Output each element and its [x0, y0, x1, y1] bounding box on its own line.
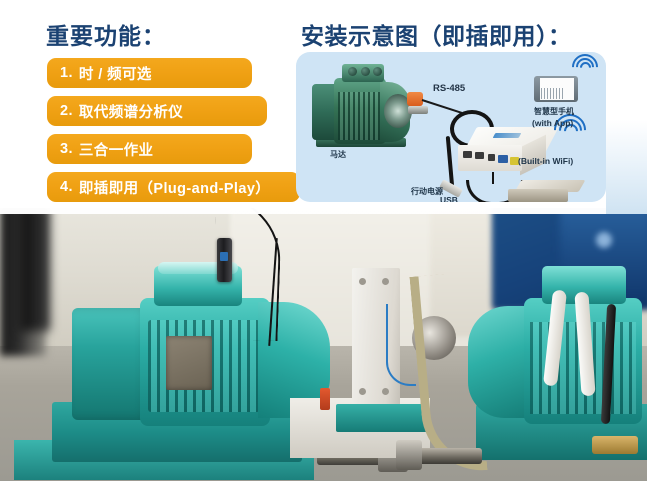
photo-brass-fitting [592, 436, 638, 454]
feature-list: 1. 时 / 频可选 2. 取代频谱分析仪 3. 三合一作业 4. 即插即用（P… [47, 58, 307, 210]
diagram-label-smartphone: 智慧型手机 [534, 106, 574, 117]
photo-bracket-hole [382, 278, 389, 285]
feature-item-1-number: 1. [60, 65, 73, 81]
diagram-smartphone-spectrum-chart [541, 88, 565, 99]
background-photo-motor-test-bench [0, 208, 647, 481]
diagram-power-bank-front [508, 189, 568, 202]
diagram-powerbank-cable-up [492, 172, 494, 184]
diagram-motor-terminal-hole [373, 67, 382, 76]
diagram-label-with-app: (with App) [532, 118, 573, 128]
feature-item-4-label: 即插即用（Plug-and-Play） [79, 177, 270, 198]
photo-motor-right-shaft [416, 448, 482, 464]
diagram-power-bank [508, 180, 582, 202]
diagram-label-power-bank: 行动电源 [411, 186, 443, 197]
feature-item-1[interactable]: 1. 时 / 频可选 [47, 58, 252, 88]
diagram-gateway-usb-port [475, 152, 484, 159]
photo-motor-left-terminal-housing [72, 308, 150, 420]
diagram-gateway-vga-port [498, 155, 508, 163]
diagram-cable-tail [446, 136, 455, 188]
diagram-label-motor: 马达 [330, 149, 346, 160]
feature-item-2[interactable]: 2. 取代频谱分析仪 [47, 96, 267, 126]
page-title-installation-diagram: 安装示意图（即插即用）： [301, 17, 572, 51]
slide-root: 重要功能： 1. 时 / 频可选 2. 取代频谱分析仪 3. 三合一作业 4. … [0, 0, 647, 481]
diagram-gateway-lan-port [488, 154, 495, 161]
wifi-signal-icon-phone [572, 54, 602, 84]
feature-item-2-number: 2. [60, 103, 73, 119]
diagram-gateway-logo [493, 133, 522, 138]
photo-blue-wire [386, 304, 416, 386]
page-title-features: 重要功能： [46, 17, 166, 51]
photo-sensor-indicator [220, 252, 228, 261]
photo-motor-right-end-bell [468, 306, 530, 418]
photo-motor-left-nameplate [166, 336, 212, 390]
feature-item-4[interactable]: 4. 即插即用（Plug-and-Play） [47, 172, 300, 202]
feature-item-3-number: 3. [60, 141, 73, 157]
feature-item-4-number: 4. [60, 179, 73, 195]
photo-motor-right-coupling [396, 440, 422, 470]
diagram-motor-terminal-hole [361, 67, 370, 76]
diagram-motor-shaft [408, 106, 428, 114]
diagram-motor-terminal-hole [348, 67, 357, 76]
diagram-motor-fins [338, 92, 382, 140]
photo-bracket-hole [382, 388, 389, 395]
diagram-sensor [407, 92, 423, 106]
diagram-gateway-device [458, 127, 552, 177]
feature-item-1-label: 时 / 频可选 [79, 63, 152, 84]
feature-item-2-label: 取代频谱分析仪 [79, 101, 183, 122]
photo-blue-machine-highlight [596, 232, 612, 248]
diagram-gateway-usb-port [463, 151, 472, 158]
photo-red-component [320, 388, 330, 410]
diagram-motor-terminal-box [342, 64, 384, 82]
feature-item-3[interactable]: 3. 三合一作业 [47, 134, 252, 164]
installation-diagram-panel: 马达 RS-485 USB (Built-in WiFi) [296, 52, 606, 202]
feature-item-3-label: 三合一作业 [79, 139, 154, 160]
photo-bracket-hole [359, 278, 366, 285]
diagram-label-builtin-wifi: (Built-in WiFi) [518, 156, 573, 166]
photo-center-foot [336, 404, 428, 432]
right-edge-fade [606, 120, 647, 214]
photo-bracket-hole [359, 388, 366, 395]
photo-vibration-sensor [217, 238, 232, 282]
diagram-label-rs485: RS-485 [433, 83, 465, 94]
photo-dark-column-left-core [20, 208, 50, 331]
